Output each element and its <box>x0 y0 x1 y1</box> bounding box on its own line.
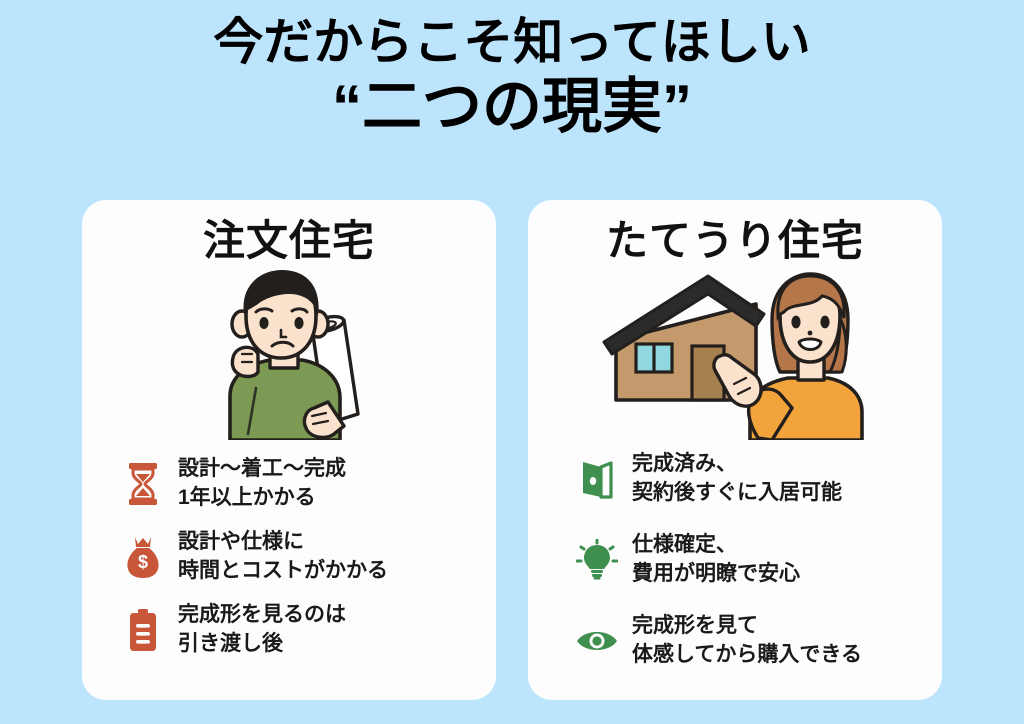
illustration-worried-man-with-blueprint <box>82 268 496 443</box>
svg-text:$: $ <box>138 552 148 572</box>
bullet-item: 完成形を見るのは 引き渡し後 <box>120 601 476 659</box>
bullet-text: 設計〜着工〜完成 1年以上かかる <box>178 455 346 513</box>
eye-icon <box>574 616 620 666</box>
bullet-text: 完成形を見て 体感してから購入できる <box>632 612 862 670</box>
card-custom-home: 注文住宅 <box>82 200 496 700</box>
bullet-item: 完成形を見て 体感してから購入できる <box>574 612 922 670</box>
bullet-item: 仕様確定、 費用が明瞭で安心 <box>574 531 922 589</box>
page-title: 今だからこそ知ってほしい “二つの現実” <box>0 14 1024 140</box>
bullet-text: 完成形を見るのは 引き渡し後 <box>178 601 346 659</box>
card-heading-spec-home: たてうり住宅 <box>528 200 942 264</box>
illustration-woman-pointing-at-house <box>528 268 942 443</box>
bullet-list-spec-home: 完成済み、 契約後すぐに入居可能 <box>574 450 922 693</box>
bullet-item: 完成済み、 契約後すぐに入居可能 <box>574 450 922 508</box>
title-line-1: 今だからこそ知ってほしい <box>0 14 1024 71</box>
bullet-list-custom-home: 設計〜着工〜完成 1年以上かかる $ 設計や仕様に 時間とコストがかかる <box>120 455 476 674</box>
bullet-item: 設計〜着工〜完成 1年以上かかる <box>120 455 476 513</box>
hourglass-icon <box>120 459 166 509</box>
card-spec-home: たてうり住宅 <box>528 200 942 700</box>
money-bag-icon: $ <box>120 532 166 582</box>
bullet-item: $ 設計や仕様に 時間とコストがかかる <box>120 528 476 586</box>
title-line-2: “二つの現実” <box>0 73 1024 140</box>
card-heading-custom-home: 注文住宅 <box>82 200 496 264</box>
clipboard-icon <box>120 605 166 655</box>
comparison-cards: 注文住宅 <box>82 200 942 700</box>
bullet-text: 設計や仕様に 時間とコストがかかる <box>178 528 388 586</box>
lightbulb-icon <box>574 535 620 585</box>
open-door-icon <box>574 454 620 504</box>
bullet-text: 仕様確定、 費用が明瞭で安心 <box>632 531 800 589</box>
bullet-text: 完成済み、 契約後すぐに入居可能 <box>632 450 842 508</box>
